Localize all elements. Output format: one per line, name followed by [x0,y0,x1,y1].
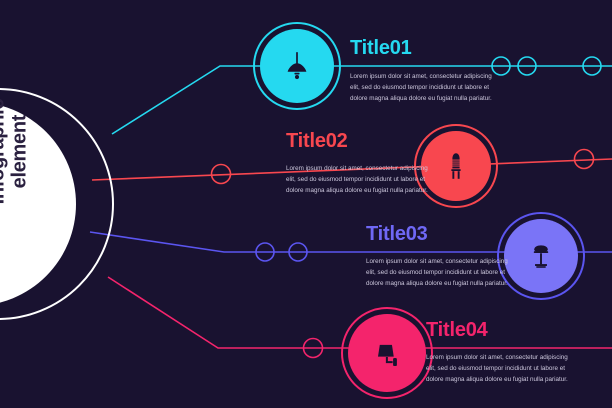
table-lamp-icon [524,239,558,273]
text-block-01: Title01 Lorem ipsum dolor sit amet, cons… [350,38,498,104]
node-icon-04[interactable] [348,314,426,392]
title-03: Title03 [366,224,516,244]
text-block-03: Title03 Lorem ipsum dolor sit amet, cons… [366,224,516,289]
text-block-02: Title02 Lorem ipsum dolor sit amet, cons… [286,131,436,196]
title-01: Title01 [350,38,498,58]
title-02: Title02 [286,131,436,151]
connector-dot-02b [575,150,594,169]
node-icon-01[interactable] [260,29,334,103]
title-04: Title04 [426,320,576,340]
hub-label: Infographic element [0,77,31,227]
text-block-04: Title04 Lorem ipsum dolor sit amet, cons… [426,320,576,385]
body-01: Lorem ipsum dolor sit amet, consectetur … [350,72,498,104]
body-02: Lorem ipsum dolor sit amet, consectetur … [286,164,436,196]
body-04: Lorem ipsum dolor sit amet, consectetur … [426,353,576,385]
infographic-canvas: Infographic element [0,0,612,408]
floor-lamp-icon [440,150,472,182]
pendant-lamp-icon [280,49,314,83]
body-03: Lorem ipsum dolor sit amet, consectetur … [366,257,516,289]
wall-sconce-icon [369,335,405,371]
